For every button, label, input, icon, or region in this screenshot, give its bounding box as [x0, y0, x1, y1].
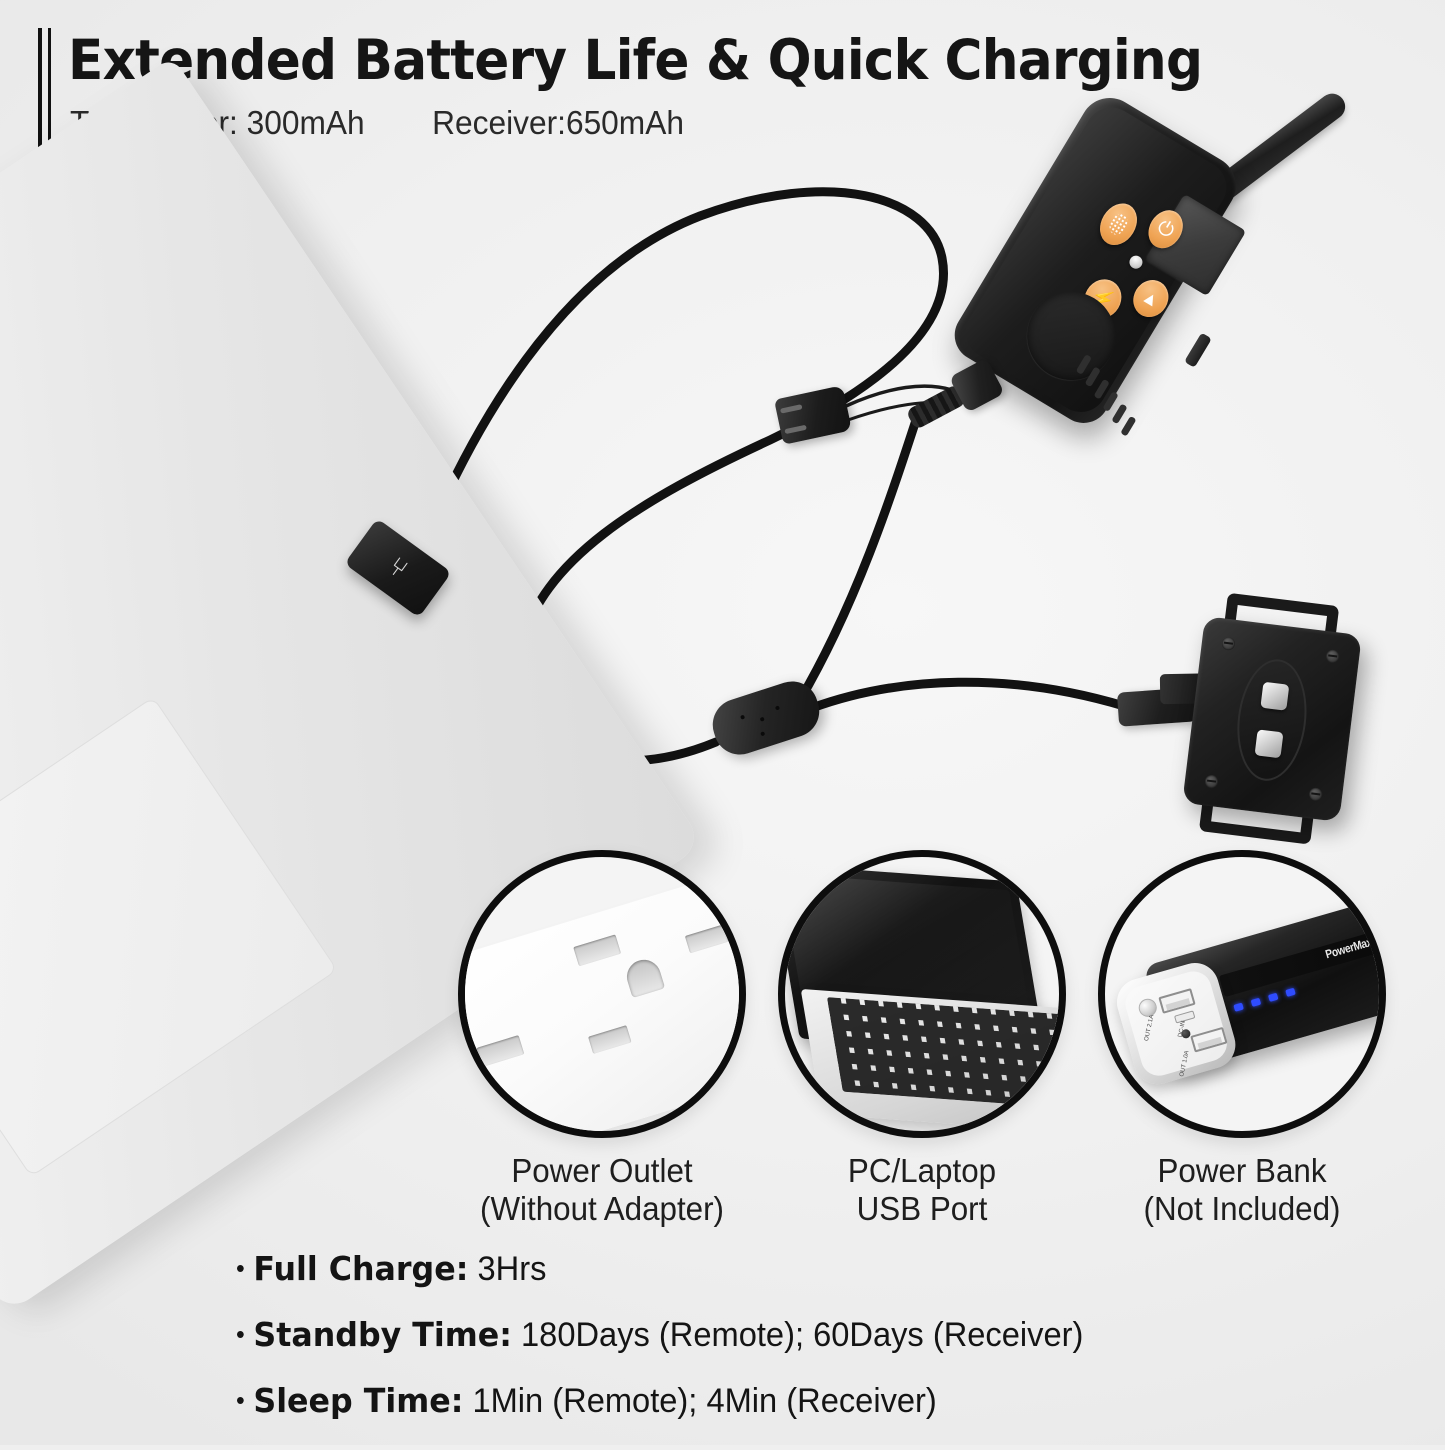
receiver-body — [1182, 616, 1362, 822]
spec-value: 180Days (Remote); 60Days (Receiver) — [521, 1316, 1083, 1354]
caption-power-bank: Power Bank (Not Included) — [1062, 1152, 1423, 1229]
vibration-grid-icon — [1106, 211, 1131, 238]
power-bank-button[interactable] — [1137, 997, 1159, 1019]
spec-label: Full Charge: — [253, 1249, 468, 1288]
page-title: Extended Battery Life & Quick Charging — [68, 28, 1202, 92]
screw-bottom-left — [1204, 774, 1218, 788]
charging-option-power-outlet — [458, 850, 746, 1138]
spec-label: Standby Time: — [253, 1315, 512, 1354]
infographic-page: Extended Battery Life & Quick Charging T… — [0, 0, 1445, 1445]
power-bank-icon: PowerMaxx OUT 2.1A DC-IN — [1104, 882, 1386, 1132]
vibration-button[interactable] — [1093, 197, 1145, 252]
caption-pc-laptop: PC/Laptop USB Port — [742, 1152, 1103, 1229]
caption-line-1: Power Bank — [1157, 1152, 1326, 1189]
power-bank-usb-out-a — [1158, 988, 1195, 1014]
power-icon: ⏻ — [1153, 215, 1178, 243]
usb-icon: ⑂ — [383, 551, 414, 585]
power-bank-out-a-label: OUT 2.1A — [1144, 1014, 1155, 1041]
side-button[interactable] — [1184, 333, 1212, 368]
receiver-collar-unit — [1171, 589, 1389, 850]
spec-label: Sleep Time: — [253, 1381, 463, 1420]
status-led — [1127, 253, 1145, 271]
receiver-capacity: Receiver:650mAh — [432, 104, 684, 141]
bullet-icon: • — [236, 1253, 245, 1283]
spec-list: •Full Charge: 3Hrs •Standby Time: 180Day… — [236, 1252, 1416, 1450]
bullet-icon: • — [236, 1385, 245, 1415]
screw-top-right — [1325, 649, 1339, 663]
speaker-beep-icon: ▲ — [1138, 285, 1164, 312]
screw-bottom-right — [1308, 787, 1322, 801]
spec-item-sleep-time: •Sleep Time: 1Min (Remote); 4Min (Receiv… — [236, 1384, 1369, 1418]
spec-item-full-charge: •Full Charge: 3Hrs — [236, 1252, 1369, 1286]
charging-option-captions: Power Outlet (Without Adapter) PC/Laptop… — [0, 1152, 1445, 1252]
screw-top-left — [1221, 636, 1235, 650]
caption-line-1: PC/Laptop — [848, 1152, 996, 1189]
spec-value: 3Hrs — [477, 1250, 546, 1288]
spec-item-standby-time: •Standby Time: 180Days (Remote); 60Days … — [236, 1318, 1369, 1352]
contact-prong-bottom — [1255, 729, 1284, 758]
charging-option-power-bank: PowerMaxx OUT 2.1A DC-IN — [1098, 850, 1386, 1138]
charging-options-row: PowerMaxx OUT 2.1A DC-IN — [0, 850, 1445, 1160]
beep-button[interactable]: ▲ — [1127, 273, 1176, 323]
caption-line-2: (Not Included) — [1062, 1190, 1423, 1228]
caption-line-2: (Without Adapter) — [422, 1190, 783, 1228]
contact-plate — [1231, 655, 1313, 784]
power-bank-usb-out-b — [1190, 1027, 1227, 1053]
spec-value: 1Min (Remote); 4Min (Receiver) — [472, 1382, 936, 1420]
power-bank-out-b-label: OUT 1.0A — [1179, 1050, 1190, 1077]
power-bank-brand: PowerMaxx — [1323, 933, 1378, 961]
bullet-icon: • — [236, 1319, 245, 1349]
laptop-icon — [778, 875, 1066, 1135]
caption-line-2: USB Port — [742, 1190, 1103, 1228]
caption-power-outlet: Power Outlet (Without Adapter) — [422, 1152, 783, 1229]
wall-outlet-icon — [458, 855, 746, 1138]
y-splitter-junction — [706, 675, 826, 762]
rubber-dust-cap — [774, 385, 852, 445]
caption-line-1: Power Outlet — [511, 1152, 692, 1189]
charging-option-pc-laptop — [778, 850, 1066, 1138]
contact-prong-top — [1260, 682, 1289, 711]
accent-bar — [38, 28, 56, 154]
